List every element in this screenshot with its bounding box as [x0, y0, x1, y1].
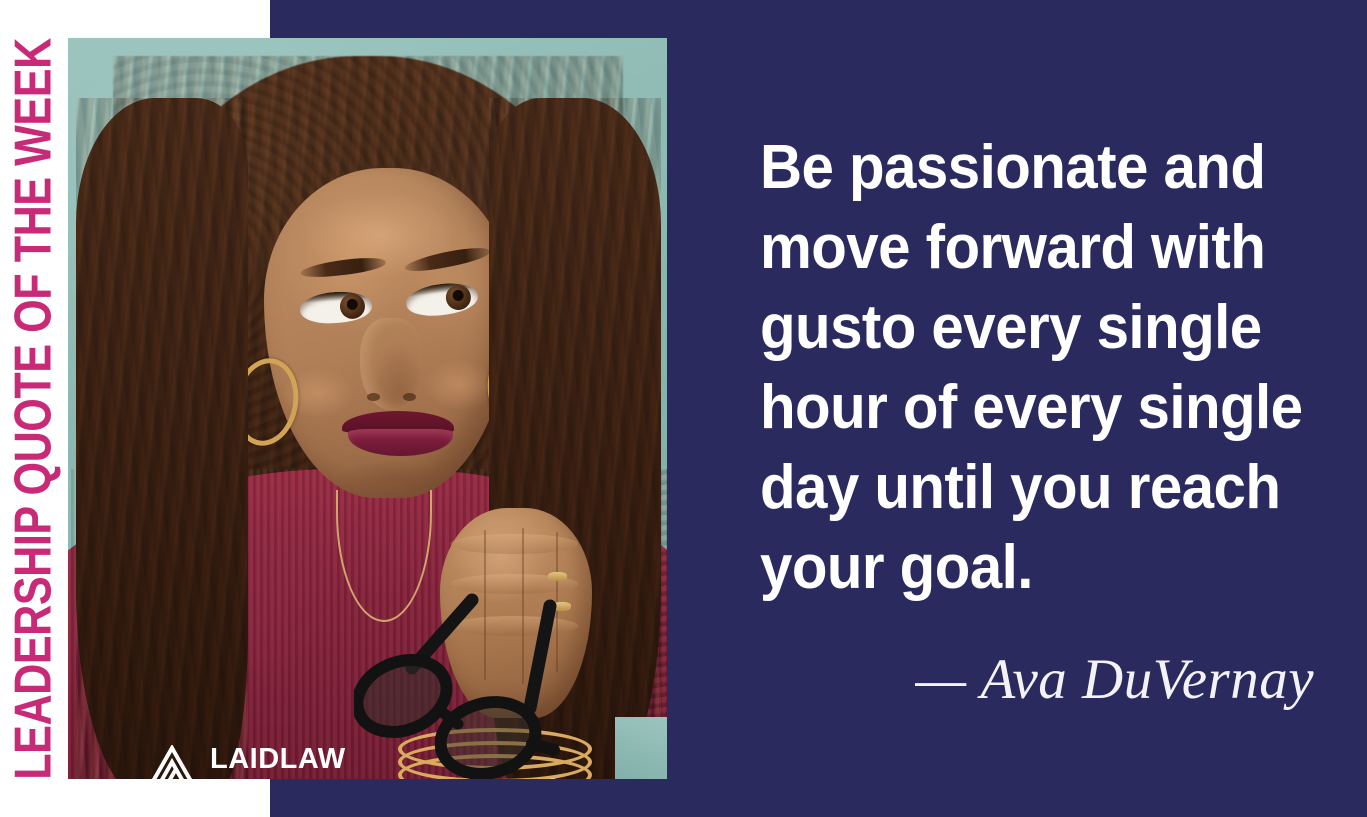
logo-name: LAIDLAW [210, 745, 364, 774]
hair-front-left [76, 98, 248, 779]
nostril-left [367, 393, 380, 401]
quote-line-text: hour of every single [760, 368, 1303, 448]
quote-line-text: day until you reach [760, 448, 1280, 528]
quote-line-text: gusto every single [760, 288, 1262, 368]
logo-subtitle: FOUNDATION [210, 778, 364, 779]
quote-line-text: move forward with [760, 208, 1265, 288]
quote-line: day until you reach [760, 448, 1320, 528]
quote-line: Be passionate and [760, 128, 1320, 208]
triangle-logo-icon [146, 745, 198, 779]
eyeglasses-icon [354, 578, 614, 779]
portrait-photo: LAIDLAW FOUNDATION [68, 38, 667, 779]
quote-card: LEADERSHIP QUOTE OF THE WEEK [0, 0, 1367, 817]
quote-attribution: — Ava DuVernay [760, 650, 1320, 710]
cheek-highlight-right [424, 360, 496, 410]
quote-line: gusto every single [760, 288, 1320, 368]
vertical-banner-text: LEADERSHIP QUOTE OF THE WEEK [8, 38, 60, 780]
backdrop-sliver [615, 717, 667, 779]
quote-block: Be passionate and move forward with gust… [760, 128, 1320, 710]
quote-line-text: your goal. [760, 528, 1033, 608]
vertical-banner: LEADERSHIP QUOTE OF THE WEEK [0, 0, 68, 817]
lips [342, 411, 454, 457]
quote-line: move forward with [760, 208, 1320, 288]
laidlaw-foundation-logo: LAIDLAW FOUNDATION [146, 745, 364, 779]
eye-left [299, 290, 373, 326]
eye-right [404, 280, 479, 320]
logo-wordmark: LAIDLAW FOUNDATION [210, 745, 364, 779]
quote-line: hour of every single [760, 368, 1320, 448]
nose [360, 318, 422, 410]
lower-lip [348, 429, 453, 456]
knuckle-row-1 [450, 534, 578, 554]
quote-line: your goal. [760, 528, 1320, 608]
quote-line-text: Be passionate and [760, 128, 1265, 208]
hair-front-left-texture [76, 98, 248, 779]
nostril-right [403, 393, 416, 401]
vertical-banner-label: LEADERSHIP QUOTE OF THE WEEK [10, 0, 59, 817]
